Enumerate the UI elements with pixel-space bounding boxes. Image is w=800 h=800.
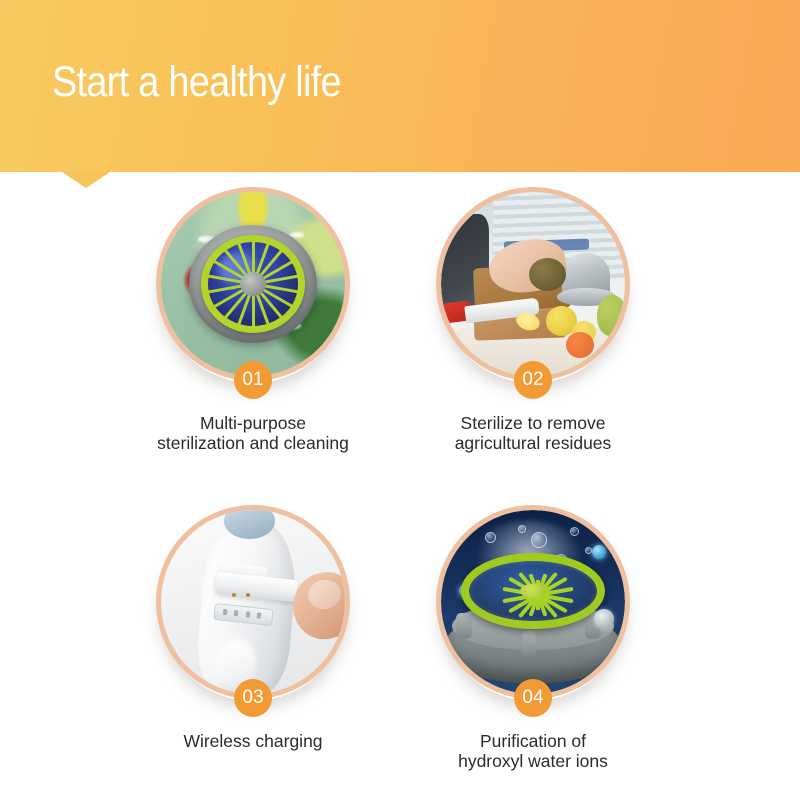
step-badge-03: 03	[234, 679, 272, 717]
page-title: Start a healthy life	[52, 58, 341, 106]
device-hub	[240, 272, 266, 296]
step-badge-01: 01	[234, 361, 272, 399]
feature-caption-02: Sterilize to remove agricultural residue…	[363, 413, 703, 453]
feature-image-wrap-01: 01	[156, 187, 350, 381]
feature-image-wrap-03: 03	[156, 505, 350, 699]
feature-caption-04: Purification of hydroxyl water ions	[363, 731, 703, 771]
charging-pins	[227, 593, 264, 600]
feature-image-wrap-04: 04	[436, 505, 630, 699]
feature-circle-02	[436, 187, 630, 381]
feature-grid: 01 Multi-purpose sterilization and clean…	[0, 187, 800, 800]
header-banner: Start a healthy life	[0, 0, 800, 172]
step-badge-02: 02	[514, 361, 552, 399]
feature-circle-01	[156, 187, 350, 381]
banner-tail-pointer	[62, 172, 110, 188]
device-hub	[520, 584, 546, 598]
device-spokes	[441, 510, 625, 694]
feature-card-02[interactable]: 02 Sterilize to remove agricultural resi…	[363, 187, 703, 453]
photo-wireless-charging-connector	[161, 510, 345, 694]
feature-circle-03	[156, 505, 350, 699]
feature-image-wrap-02: 02	[436, 187, 630, 381]
step-badge-04: 04	[514, 679, 552, 717]
photo-kitchen-hand-with-kiwi	[441, 192, 625, 376]
photo-device-underwater-bubbles	[441, 510, 625, 694]
feature-circle-04	[436, 505, 630, 699]
feature-card-04[interactable]: 04 Purification of hydroxyl water ions	[363, 505, 703, 771]
photo-sterilizer-in-green-water	[161, 192, 345, 376]
